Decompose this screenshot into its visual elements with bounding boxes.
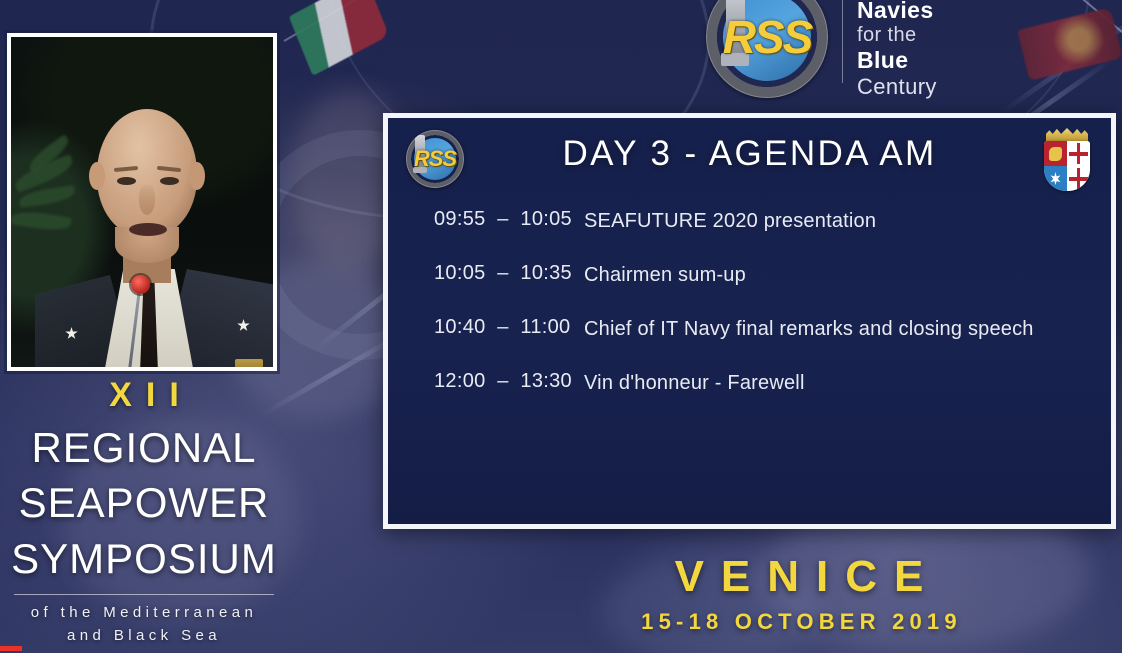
brand-title-line-2: SEAPOWER: [0, 475, 288, 530]
tagline-line-blue: Blue: [857, 47, 937, 74]
brand-title-line-1: REGIONAL: [0, 420, 288, 475]
agenda-time: 12:00 – 13:30: [434, 370, 584, 393]
microphone-icon: [131, 275, 150, 294]
agenda-row: 09:55 – 10:05 SEAFUTURE 2020 presentatio…: [434, 208, 1085, 235]
agenda-row: 10:40 – 11:00 Chief of IT Navy final rem…: [434, 316, 1085, 343]
agenda-time: 10:40 – 11:00: [434, 316, 584, 339]
cross: [1069, 152, 1088, 156]
brand-title-line-3: SYMPOSIUM: [0, 531, 288, 586]
agenda-description: Chief of IT Navy final remarks and closi…: [584, 316, 1034, 343]
event-city: VENICE: [566, 555, 1032, 600]
speaker-head: [97, 109, 197, 237]
divider: [14, 594, 274, 595]
agenda-description: Vin d'honneur - Farewell: [584, 370, 805, 397]
cross: [1069, 177, 1088, 181]
speaker-mouth: [129, 223, 167, 236]
speaker-eye: [117, 177, 136, 185]
quarter-star: [1044, 166, 1067, 191]
logo-wordmark: RSS: [706, 0, 828, 98]
speaker-video-inset: [7, 33, 277, 371]
video-progress-indicator[interactable]: [0, 646, 22, 651]
tagline-line-forthe: for the: [857, 24, 937, 47]
event-branding: XII REGIONAL SEAPOWER SYMPOSIUM of the M…: [0, 378, 288, 648]
brand-subtitle-line-2: and Black Sea: [0, 624, 288, 647]
quarter-cross-2: [1067, 166, 1090, 191]
presentation-background: XII REGIONAL SEAPOWER SYMPOSIUM of the M…: [0, 0, 1122, 653]
shield: [1044, 141, 1090, 191]
agenda-description: Chairmen sum-up: [584, 262, 746, 289]
lion-charge: [1049, 147, 1062, 161]
event-location-block: VENICE 15-18 OCTOBER 2019: [566, 555, 1032, 635]
uniform-insignia: [235, 359, 263, 371]
brand-subtitle-line-1: of the Mediterranean: [0, 601, 288, 624]
quarter-cross: [1067, 141, 1090, 166]
divider: [842, 0, 843, 83]
star-charge: [1050, 172, 1061, 185]
crown-icon: [1046, 128, 1088, 142]
agenda-title: DAY 3 - AGENDA AM: [388, 134, 1111, 174]
speaker-ear: [89, 162, 105, 190]
agenda-slide-panel: RSS DAY 3 - AGENDA AM 09:55 – 10:05 SEAF…: [383, 113, 1116, 529]
edition-number: XII: [0, 378, 288, 414]
event-dates: 15-18 OCTOBER 2019: [566, 609, 1032, 635]
agenda-row: 12:00 – 13:30 Vin d'honneur - Farewell: [434, 370, 1085, 397]
italian-navy-crest-icon: [1040, 128, 1094, 192]
tagline: our Navies for the Blue Century: [857, 0, 937, 99]
rss-logo-icon: RSS: [706, 0, 828, 98]
agenda-row: 10:05 – 10:35 Chairmen sum-up: [434, 262, 1085, 289]
speaker-nose: [139, 185, 155, 215]
speaker-eye: [160, 177, 179, 185]
agenda-time: 10:05 – 10:35: [434, 262, 584, 285]
tagline-line-navies: Navies: [857, 0, 937, 24]
quarter-lion: [1044, 141, 1067, 166]
agenda-header: RSS DAY 3 - AGENDA AM: [388, 118, 1111, 196]
tagline-line-century: Century: [857, 74, 937, 100]
agenda-description: SEAFUTURE 2020 presentation: [584, 208, 876, 235]
speaker-ear: [189, 162, 205, 190]
agenda-list: 09:55 – 10:05 SEAFUTURE 2020 presentatio…: [388, 196, 1111, 397]
rss-lockup: RSS our Navies for the Blue Century: [706, 0, 937, 99]
agenda-time: 09:55 – 10:05: [434, 208, 584, 231]
